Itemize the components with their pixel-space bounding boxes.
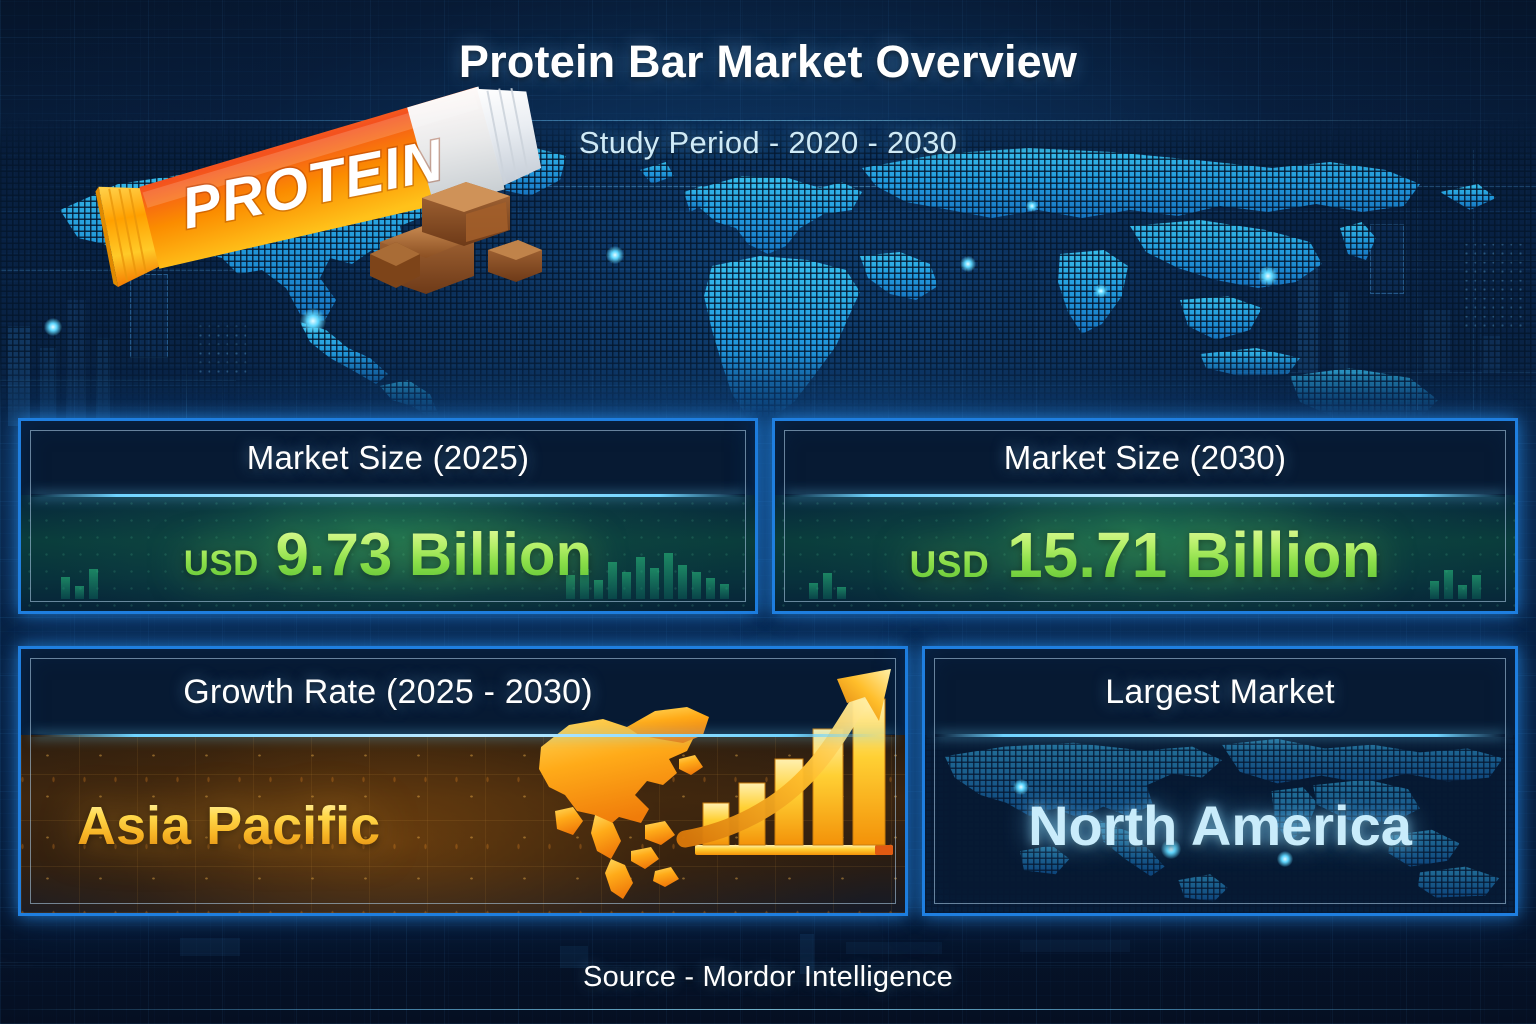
map-glow-node: [606, 246, 624, 264]
page-title: Protein Bar Market Overview: [0, 36, 1536, 88]
source-label: Source - Mordor Intelligence: [0, 961, 1536, 994]
world-map-graphic: [0, 118, 1536, 418]
study-period-label: Study Period - 2020 - 2030: [0, 125, 1536, 161]
scale: Billion: [409, 521, 592, 588]
map-glow-node: [44, 318, 62, 336]
map-glow-node: [1094, 284, 1108, 298]
accent-line-upper: [0, 120, 1536, 121]
market-size-2030-heading: Market Size (2030): [775, 421, 1515, 495]
currency-unit: USD: [184, 544, 259, 583]
currency-unit: USD: [909, 543, 989, 585]
scale: Billion: [1185, 519, 1381, 591]
growth-rate-card[interactable]: Growth Rate (2025 - 2030): [18, 646, 908, 916]
market-size-2030-value: USD 15.71 Billion: [909, 523, 1380, 587]
footer-accent-line: [0, 1009, 1536, 1010]
card-divider: [935, 734, 1505, 737]
market-size-2025-card[interactable]: Market Size (2025) USD 9.73 Billion: [18, 418, 758, 614]
largest-market-region-value: North America: [1028, 798, 1412, 854]
growth-rate-region-value: Asia Pacific: [77, 799, 380, 853]
card-divider: [31, 494, 745, 497]
market-size-2030-card[interactable]: Market Size (2030) USD 15.71 Billion: [772, 418, 1518, 614]
map-glow-node: [1026, 200, 1038, 212]
largest-market-card[interactable]: Largest Market North America: [922, 646, 1518, 916]
map-glow-node: [1258, 266, 1278, 286]
map-glow-node: [300, 308, 326, 334]
infographic-root: Protein Bar Market Overview Study Period…: [0, 0, 1536, 1024]
hud-decor-right: [1236, 150, 1536, 420]
map-glow-node: [960, 256, 976, 272]
market-size-2025-heading: Market Size (2025): [21, 421, 755, 495]
card-divider: [31, 734, 895, 737]
amount: 15.71: [1007, 519, 1167, 591]
hud-decor-left: [0, 230, 260, 430]
market-size-2025-value: USD 9.73 Billion: [184, 525, 592, 585]
card-divider: [785, 494, 1505, 497]
largest-market-heading: Largest Market: [925, 649, 1515, 735]
protein-bar-icon: PROTEIN: [88, 72, 578, 287]
growth-rate-heading: Growth Rate (2025 - 2030): [21, 649, 905, 735]
accent-line-mid: [0, 186, 1536, 187]
amount: 9.73: [275, 521, 392, 588]
